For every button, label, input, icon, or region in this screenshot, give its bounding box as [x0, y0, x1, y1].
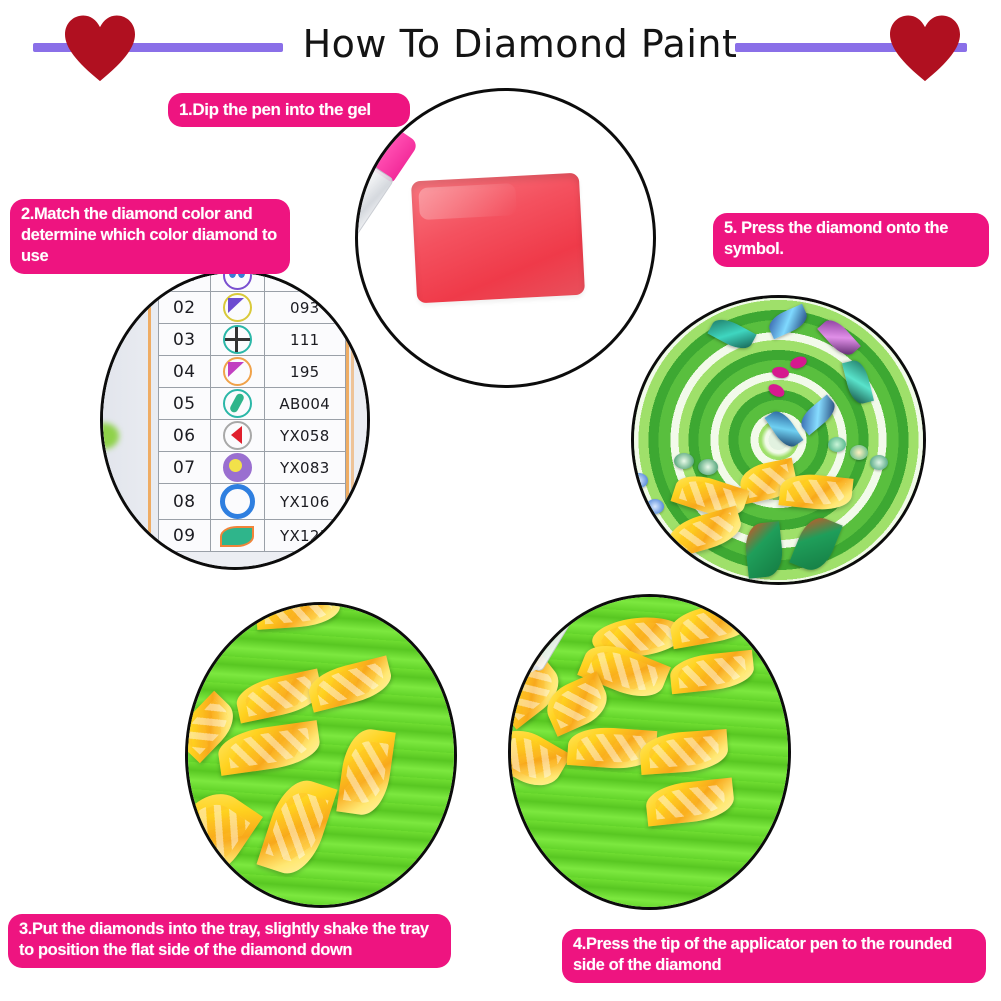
row-symbol [210, 388, 264, 420]
row-code: YX083 [264, 452, 345, 484]
row-number: 03 [159, 324, 211, 356]
diamond-dot [772, 365, 791, 379]
table-body: 01 028 02 0 [159, 270, 346, 552]
diamond-dot [698, 459, 718, 475]
step-2-label: 2.Match the diamond color and determine … [10, 199, 290, 274]
row-symbol [210, 520, 264, 552]
diamond-gem [708, 314, 757, 354]
diamond-gem [766, 303, 811, 338]
diamond-dot [646, 499, 664, 514]
yellow-diamond [255, 602, 341, 630]
left-chevron-icon [223, 421, 252, 450]
table-row: 09 YX125 [159, 520, 346, 552]
table-row: 08 YX106 [159, 484, 346, 520]
row-number: 07 [159, 452, 211, 484]
step-1-scene [358, 91, 653, 385]
pen-barrel [631, 297, 666, 391]
row-code: AB004 [264, 388, 345, 420]
table-row: 04 195 [159, 356, 346, 388]
step-1-photo [355, 88, 656, 388]
heart-icon [888, 14, 962, 84]
table-row: 05 AB004 [159, 388, 346, 420]
leaf-marquise-icon [222, 528, 252, 545]
yellow-diamond [665, 505, 746, 558]
diamond-dot [850, 445, 868, 460]
row-code: YX058 [264, 420, 345, 452]
chart-edge-line [346, 273, 349, 567]
table-row: 06 YX058 [159, 420, 346, 452]
diamond-dot [828, 437, 846, 452]
step-5-label: 5. Press the diamond onto the symbol. [713, 213, 989, 267]
gel-pad [411, 173, 585, 304]
row-number: 09 [159, 520, 211, 552]
step-2-photo: 01 028 02 0 [100, 270, 370, 570]
yellow-diamond [668, 599, 759, 649]
table-row: 03 111 [159, 324, 346, 356]
row-symbol [210, 292, 264, 324]
chart-edge-line [351, 273, 354, 567]
yellow-diamond [216, 720, 323, 776]
diamond-tray [185, 602, 457, 908]
filled-dot-icon [223, 453, 252, 482]
yellow-diamond [185, 780, 263, 890]
row-number: 04 [159, 356, 211, 388]
row-code: YX106 [264, 484, 345, 520]
chart-paper: 01 028 02 0 [103, 273, 367, 567]
diamond-tray [508, 594, 791, 910]
step-3-label: 3.Put the diamonds into the tray, slight… [8, 914, 451, 968]
step-3-photo [185, 602, 457, 908]
row-number: 06 [159, 420, 211, 452]
step-4-label: 4.Press the tip of the applicator pen to… [562, 929, 986, 983]
canvas-symbol-blob [100, 423, 119, 449]
green-diamond [790, 512, 844, 576]
triangle-corner-icon [223, 293, 252, 322]
page-header: How To Diamond Paint [0, 0, 1001, 78]
yellow-diamond [645, 778, 737, 827]
yellow-diamond [257, 773, 338, 881]
table-row: 02 093 [159, 292, 346, 324]
canvas-symbol-blob [100, 491, 119, 515]
color-symbol-table: 01 028 02 0 [158, 270, 346, 552]
diamond-gem [818, 315, 862, 360]
yellow-diamond [779, 471, 854, 512]
diamond-dot [631, 473, 648, 488]
plus-cross-icon [223, 325, 252, 354]
diagonal-bar-icon [223, 389, 252, 418]
row-code: YX125 [264, 520, 345, 552]
row-symbol [210, 324, 264, 356]
row-number: 05 [159, 388, 211, 420]
step-5-photo [631, 295, 926, 585]
diamond-dot [789, 354, 809, 370]
diamond-dot [674, 453, 694, 469]
yellow-diamond [336, 726, 396, 818]
row-code: 195 [264, 356, 345, 388]
diamond-gem [842, 358, 874, 406]
triangle-corner-icon [223, 357, 252, 386]
yellow-diamond [669, 650, 756, 695]
row-number: 02 [159, 292, 211, 324]
step-1-label: 1.Dip the pen into the gel [168, 93, 410, 127]
row-symbol [210, 420, 264, 452]
diamond-gem [765, 406, 804, 450]
table-row: 07 YX083 [159, 452, 346, 484]
page-title: How To Diamond Paint [290, 18, 750, 70]
yellow-diamond [305, 655, 396, 712]
row-code: 111 [264, 324, 345, 356]
row-symbol [210, 484, 264, 520]
chart-edge-line [148, 273, 151, 567]
green-diamond [744, 521, 785, 578]
heart-icon [63, 14, 137, 84]
row-number: 08 [159, 484, 211, 520]
row-symbol [210, 356, 264, 388]
diamond-dot [870, 455, 888, 470]
diamond-dot [767, 381, 787, 399]
mandala-canvas [631, 295, 926, 585]
row-code: 093 [264, 292, 345, 324]
open-ring-icon [220, 484, 255, 519]
step-4-photo [508, 594, 791, 910]
row-symbol [210, 452, 264, 484]
diamond-gem [797, 394, 840, 435]
